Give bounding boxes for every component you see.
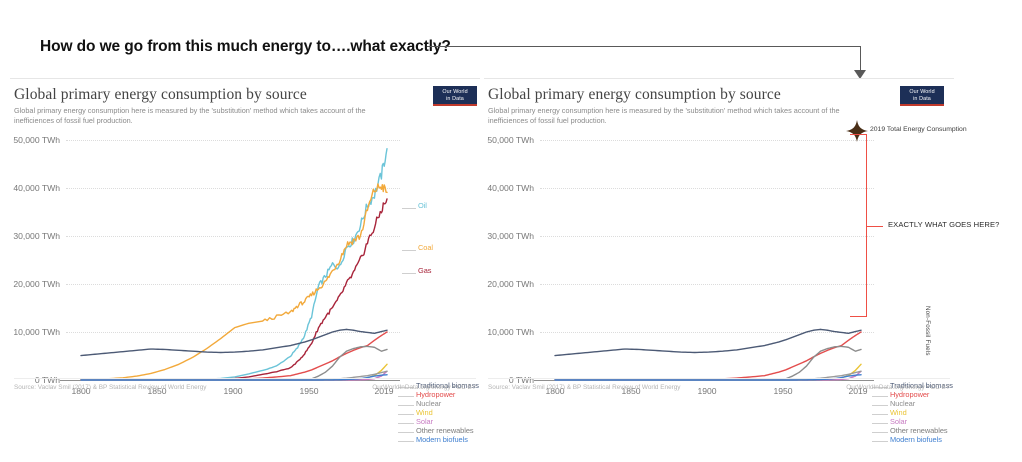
series-lines-left [66, 140, 400, 380]
leader-gas [402, 273, 416, 274]
chart-subtitle: Global primary energy consumption here i… [14, 106, 374, 127]
series-label-hydropower: Hydropower [890, 390, 929, 399]
plot-area-right: 50,000 TWh 40,000 TWh 30,000 TWh 20,000 … [540, 140, 874, 380]
leader-other-renewables [398, 432, 414, 433]
bracket-vertical-line [866, 134, 867, 316]
chart-source: Source: Vaclav Smil (2017) & BP Statisti… [14, 384, 207, 391]
y-tick-label-30000: 30,000 TWh [487, 231, 534, 241]
leader-hydropower [872, 396, 888, 397]
series-line-oil [81, 149, 387, 380]
y-tick-label-10000: 10,000 TWh [13, 327, 60, 337]
arrow-horizontal-segment [427, 46, 861, 47]
x-tick-label-1900: 1900 [697, 386, 716, 396]
series-line-traditional-biomass [555, 329, 861, 355]
y-tick-label-10000: 10,000 TWh [487, 327, 534, 337]
leader-modern-biofuels [398, 441, 414, 442]
leader-modern-biofuels [872, 441, 888, 442]
chart-title: Global primary energy consumption by sou… [488, 86, 781, 104]
series-label-solar: Solar [890, 417, 907, 426]
x-tick-label-1950: 1950 [299, 386, 318, 396]
leader-hydropower [398, 396, 414, 397]
leader-other-renewables [872, 432, 888, 433]
series-label-nuclear: Nuclear [416, 399, 441, 408]
series-line-traditional-biomass [81, 329, 387, 355]
y-tick-label-20000: 20,000 TWh [13, 279, 60, 289]
series-label-wind: Wind [890, 408, 907, 417]
y-tick-label-20000: 20,000 TWh [487, 279, 534, 289]
footer-rule [488, 378, 950, 379]
logo-line-1: Our World [900, 89, 944, 96]
bracket-annotation-label: EXACTLY WHAT GOES HERE? [888, 220, 999, 229]
non-fossil-fuels-label: Non-Fossil Fuels [924, 306, 931, 356]
y-tick-label-50000: 50,000 TWh [13, 135, 60, 145]
leader-oil [402, 208, 416, 209]
slide-headline: How do we go from this much energy to….w… [40, 38, 451, 56]
y-tick-label-30000: 30,000 TWh [13, 231, 60, 241]
leader-solar [398, 423, 414, 424]
series-label-other-renewables: Other renewables [890, 426, 948, 435]
leader-wind [398, 414, 414, 415]
chart-source: Source: Vaclav Smil (2017) & BP Statisti… [488, 384, 681, 391]
series-label-modern-biofuels: Modern biofuels [890, 435, 942, 444]
footer-rule [14, 378, 476, 379]
panel-top-rule [484, 78, 954, 79]
leader-wind [872, 414, 888, 415]
series-label-oil: Oil [418, 201, 427, 210]
leader-nuclear [872, 405, 888, 406]
logo-line-1: Our World [433, 89, 477, 96]
our-world-in-data-logo: Our World in Data [900, 86, 944, 106]
series-label-solar: Solar [416, 417, 433, 426]
series-label-coal: Coal [418, 243, 433, 252]
plot-area-left: 50,000 TWh 40,000 TWh 30,000 TWh 20,000 … [66, 140, 400, 380]
series-lines-right [540, 140, 874, 380]
x-tick-label-1900: 1900 [223, 386, 242, 396]
leader-nuclear [398, 405, 414, 406]
chart-credit[interactable]: OurWorldInData.org/energy • CC BY [846, 384, 950, 391]
series-line-coal [81, 184, 387, 380]
bracket-bottom-tick [850, 316, 867, 317]
slide-canvas: How do we go from this much energy to….w… [0, 0, 1022, 462]
x-tick-label-1950: 1950 [773, 386, 792, 396]
y-tick-label-40000: 40,000 TWh [487, 183, 534, 193]
panel-top-rule [10, 78, 480, 79]
chart-title: Global primary energy consumption by sou… [14, 86, 307, 104]
our-world-in-data-logo: Our World in Data [433, 86, 477, 106]
series-label-wind: Wind [416, 408, 433, 417]
series-label-nuclear: Nuclear [890, 399, 915, 408]
four-point-star-icon [846, 120, 868, 142]
arrow-vertical-segment [860, 46, 861, 72]
bracket-top-tick [850, 134, 867, 135]
series-label-gas: Gas [418, 266, 431, 275]
series-label-other-renewables: Other renewables [416, 426, 474, 435]
logo-line-2: in Data [433, 96, 477, 103]
logo-line-2: in Data [900, 96, 944, 103]
series-line-gas [81, 199, 387, 380]
star-annotation-label: 2019 Total Energy Consumption [870, 126, 967, 133]
bracket-mid-tick [866, 226, 883, 227]
chart-subtitle: Global primary energy consumption here i… [488, 106, 848, 127]
chart-credit[interactable]: OurWorldInData.org/energy • CC BY [372, 384, 476, 391]
y-tick-label-40000: 40,000 TWh [13, 183, 60, 193]
leader-coal [402, 250, 416, 251]
series-label-modern-biofuels: Modern biofuels [416, 435, 468, 444]
y-tick-label-50000: 50,000 TWh [487, 135, 534, 145]
series-label-hydropower: Hydropower [416, 390, 455, 399]
leader-solar [872, 423, 888, 424]
chart-panel-left: Global primary energy consumption by sou… [10, 78, 480, 398]
